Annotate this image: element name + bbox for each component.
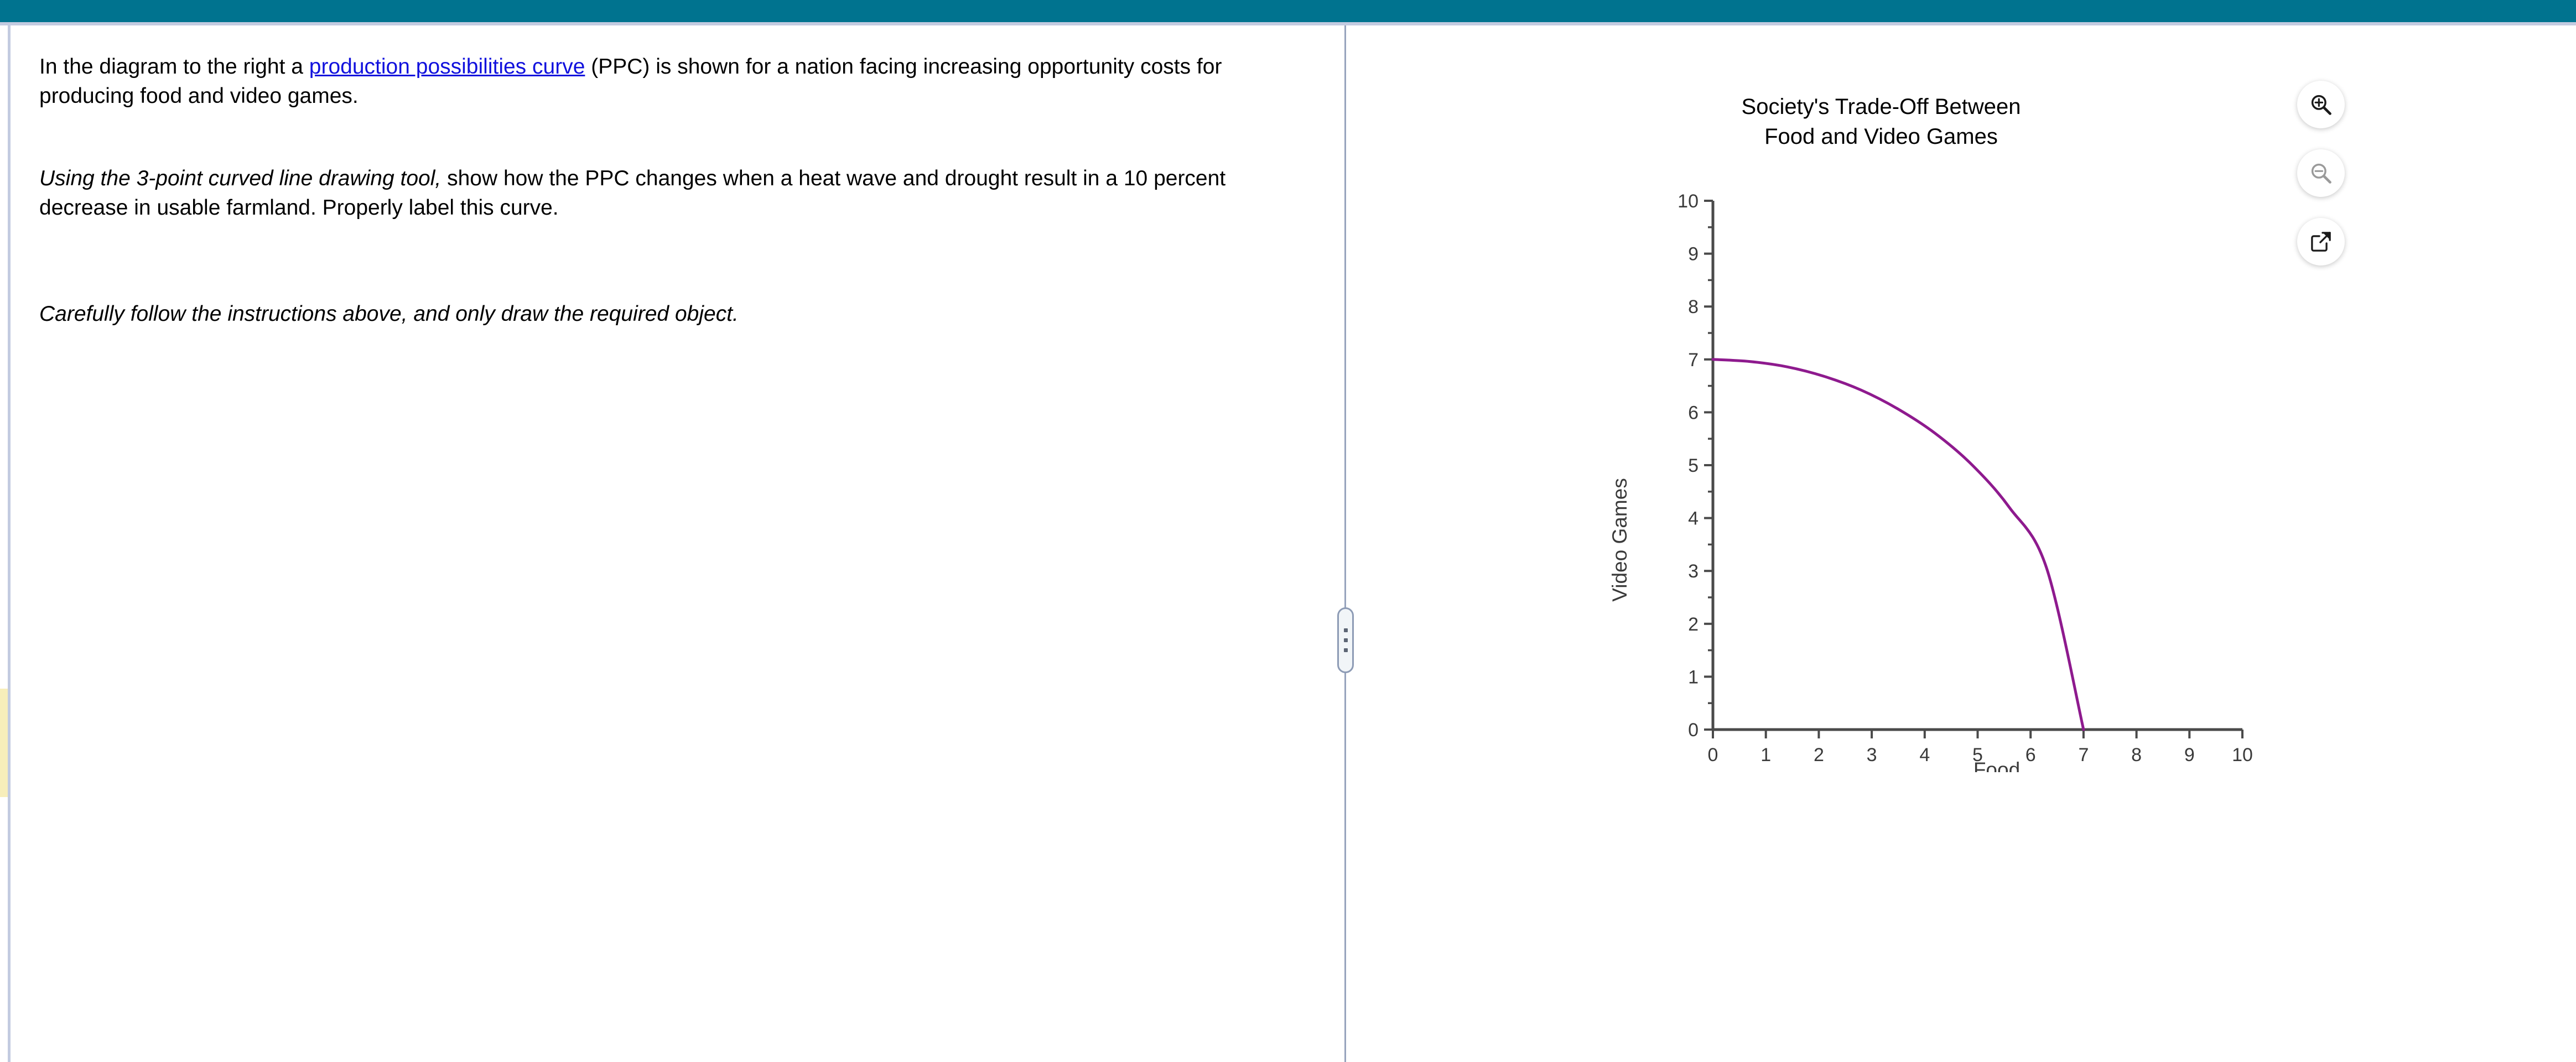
production-possibilities-curve[interactable] — [1713, 360, 2084, 730]
x-tick-label: 1 — [1760, 745, 1771, 766]
drawing-tool-instruction-emphasis: Using the 3-point curved line drawing to… — [39, 166, 441, 190]
magnifier-minus-icon — [2309, 161, 2333, 185]
x-tick-label: 3 — [1867, 745, 1877, 766]
y-axis-ticks: 012345678910 — [1677, 191, 1713, 741]
x-tick-label: 4 — [1919, 745, 1930, 766]
y-tick-label: 5 — [1688, 455, 1699, 476]
production-possibilities-curve-link[interactable]: production possibilities curve — [309, 55, 585, 79]
pane-divider-line — [1344, 25, 1346, 1062]
x-tick-label: 8 — [2131, 745, 2142, 766]
y-tick-label: 9 — [1688, 244, 1699, 265]
magnifier-plus-icon — [2309, 92, 2333, 117]
zoom-in-button[interactable] — [2297, 81, 2345, 128]
question-pane: In the diagram to the right a production… — [11, 25, 1341, 1062]
question-paragraph-2: Using the 3-point curved line drawing to… — [39, 164, 1290, 222]
open-in-window-button[interactable] — [2297, 218, 2345, 265]
x-tick-label: 10 — [2232, 745, 2253, 766]
chart-title-line-1: Society's Trade-Off Between — [1604, 92, 2158, 122]
graph-pane: Society's Trade-Off Between Food and Vid… — [1347, 25, 2576, 1062]
graph-tool-buttons — [2297, 81, 2345, 265]
x-tick-label: 2 — [1814, 745, 1824, 766]
x-axis-title: Food — [1973, 758, 2020, 772]
x-tick-label: 6 — [2026, 745, 2036, 766]
y-tick-label: 8 — [1688, 296, 1699, 317]
y-tick-label: 4 — [1688, 508, 1699, 529]
x-tick-label: 0 — [1708, 745, 1718, 766]
question-paragraph-1: In the diagram to the right a production… — [39, 52, 1290, 111]
y-tick-label: 10 — [1677, 191, 1699, 212]
zoom-out-button[interactable] — [2297, 149, 2345, 197]
question-paragraph-3: Carefully follow the instructions above,… — [39, 299, 1290, 329]
ppc-chart[interactable]: Video Games 012345678910 012345678910 Fo… — [1585, 153, 2304, 772]
external-link-icon — [2309, 230, 2333, 254]
x-tick-label: 7 — [2078, 745, 2089, 766]
y-axis-title: Video Games — [1608, 478, 1631, 602]
y-tick-label: 3 — [1688, 561, 1699, 582]
paragraph-1-lead-text: In the diagram to the right a — [39, 55, 309, 79]
chart-title: Society's Trade-Off Between Food and Vid… — [1604, 92, 2158, 152]
x-tick-label: 9 — [2184, 745, 2195, 766]
y-tick-label: 2 — [1688, 614, 1699, 635]
chart-title-line-2: Food and Video Games — [1604, 122, 2158, 152]
y-tick-label: 1 — [1688, 667, 1699, 688]
y-tick-label: 6 — [1688, 402, 1699, 423]
y-tick-label: 7 — [1688, 350, 1699, 371]
left-edge-highlight-strip — [0, 689, 8, 797]
content-frame: In the diagram to the right a production… — [0, 25, 2576, 1062]
application-header-bar — [0, 0, 2576, 22]
y-tick-label: 0 — [1688, 720, 1699, 741]
